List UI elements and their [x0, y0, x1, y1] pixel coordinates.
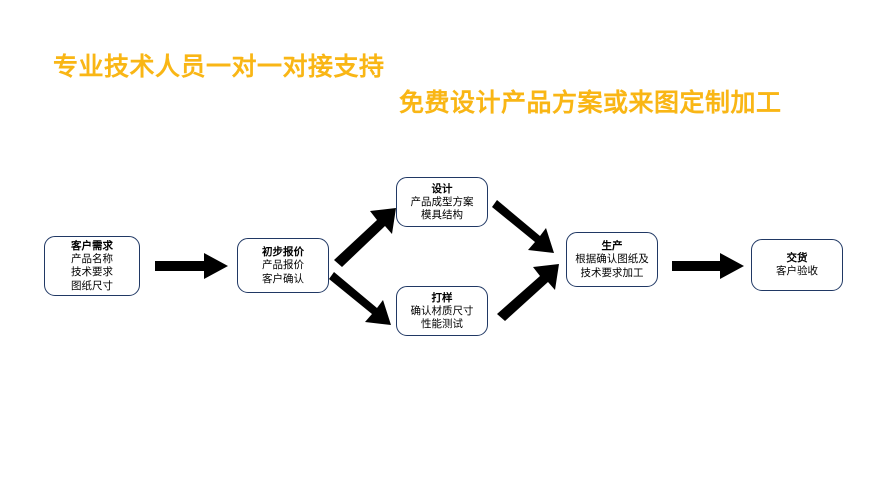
flow-node-detail: 产品成型方案: [411, 196, 474, 210]
flow-node-title: 设计: [432, 182, 453, 196]
flow-node-detail: 产品报价: [262, 259, 304, 273]
flow-node-detail: 根据确认图纸及: [575, 253, 649, 267]
flow-node-title: 客户需求: [71, 239, 113, 253]
flow-node-detail: 客户确认: [262, 273, 304, 287]
slide-canvas: 专业技术人员一对一对接支持 免费设计产品方案或来图定制加工 客户需求 产品名称 …: [0, 0, 892, 499]
flow-node-detail: 模具结构: [421, 209, 463, 223]
flow-node-detail: 性能测试: [421, 318, 463, 332]
flow-node-title: 打样: [432, 291, 453, 305]
connector-design-to-production: [492, 200, 554, 253]
connector-demand-to-quote: [155, 253, 228, 279]
flow-node-title: 交货: [787, 251, 808, 265]
flow-node-detail: 技术要求: [71, 266, 113, 280]
flow-node-detail: 技术要求加工: [581, 267, 644, 281]
flow-node-design[interactable]: 设计 产品成型方案 模具结构: [396, 177, 488, 227]
connector-production-to-delivery: [672, 253, 744, 279]
flow-node-title: 生产: [602, 239, 623, 253]
flow-node-detail: 图纸尺寸: [71, 280, 113, 294]
flow-node-detail: 客户验收: [776, 265, 818, 279]
connector-sampling-to-production: [497, 264, 559, 321]
flow-node-title: 初步报价: [262, 245, 304, 259]
flow-node-production[interactable]: 生产 根据确认图纸及 技术要求加工: [566, 232, 658, 287]
flow-node-delivery[interactable]: 交货 客户验收: [751, 239, 843, 291]
flow-node-detail: 确认材质尺寸: [411, 305, 474, 319]
connector-quote-to-sampling: [329, 272, 391, 325]
flow-node-sampling[interactable]: 打样 确认材质尺寸 性能测试: [396, 286, 488, 336]
flow-node-customer-demand[interactable]: 客户需求 产品名称 技术要求 图纸尺寸: [44, 236, 140, 296]
flow-node-detail: 产品名称: [71, 253, 113, 267]
headline-primary: 专业技术人员一对一对接支持: [53, 52, 385, 82]
connector-quote-to-design: [334, 208, 396, 267]
headline-secondary: 免费设计产品方案或来图定制加工: [399, 88, 782, 118]
flow-node-initial-quote[interactable]: 初步报价 产品报价 客户确认: [237, 238, 329, 293]
